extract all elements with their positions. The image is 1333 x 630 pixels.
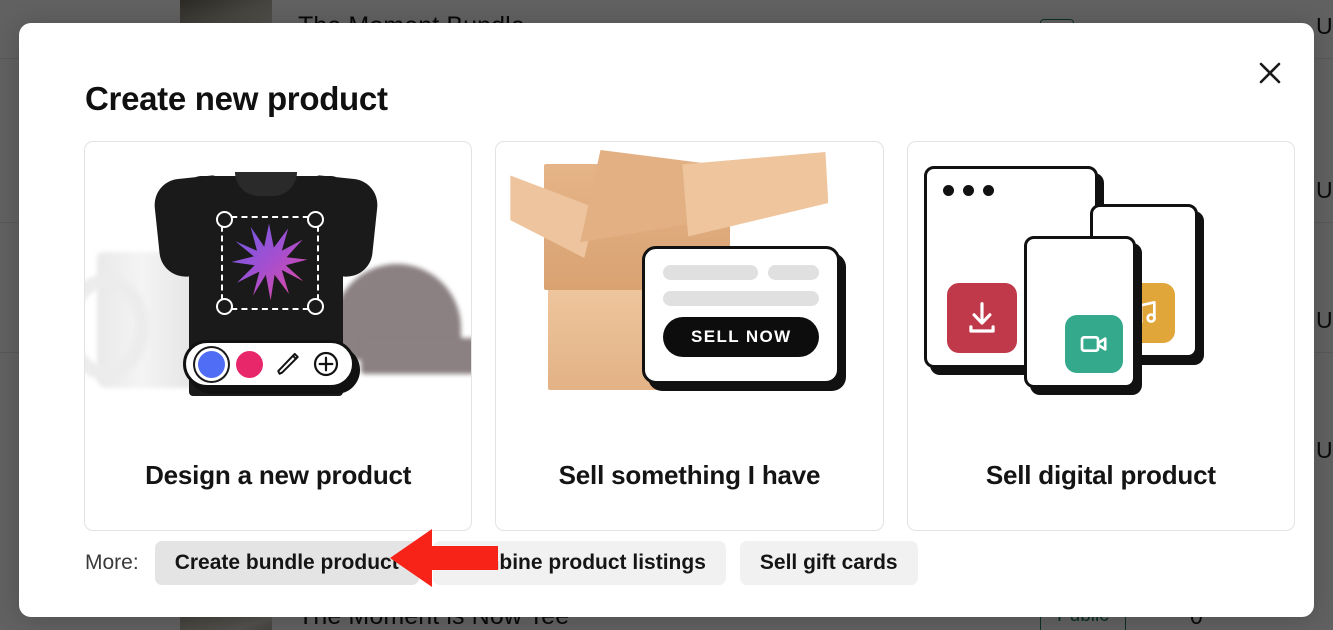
resize-handle-bottom-right[interactable]	[307, 298, 324, 315]
window-dot	[943, 185, 954, 196]
file-window-front	[1024, 236, 1136, 388]
card-label: Design a new product	[85, 460, 471, 491]
resize-handle-bottom-left[interactable]	[216, 298, 233, 315]
resize-handle-top-left[interactable]	[216, 211, 233, 228]
resize-handle-top-right[interactable]	[307, 211, 324, 228]
card-label: Sell digital product	[908, 460, 1294, 491]
create-new-product-modal: Create new product	[19, 23, 1314, 617]
placeholder-bar	[663, 265, 758, 280]
color-swatch-blue-icon[interactable]	[198, 351, 225, 378]
product-type-card-list: Design a new product	[84, 141, 1295, 531]
close-button[interactable]	[1248, 51, 1292, 95]
download-icon	[963, 299, 1001, 337]
download-tile	[947, 283, 1017, 353]
sell-gift-cards-button[interactable]: Sell gift cards	[740, 541, 918, 585]
box-flap-right	[682, 152, 828, 240]
window-dot	[963, 185, 974, 196]
window-dot	[983, 185, 994, 196]
card-label: Sell something I have	[496, 460, 882, 491]
more-label: More:	[85, 551, 139, 575]
listing-preview-card: SELL NOW	[642, 246, 840, 384]
close-icon	[1255, 58, 1285, 88]
more-options-row: More: Create bundle product Combine prod…	[85, 541, 918, 585]
pencil-icon[interactable]	[275, 351, 301, 377]
video-tile	[1065, 315, 1123, 373]
cap-brim-graphic	[361, 338, 472, 374]
placeholder-bar	[663, 291, 819, 306]
create-bundle-product-button[interactable]: Create bundle product	[155, 541, 419, 585]
placeholder-bar	[768, 265, 819, 280]
screen: The Moment Bundle U U U U The Moment is …	[0, 0, 1333, 630]
design-toolbar	[183, 340, 355, 388]
sell-now-button[interactable]: SELL NOW	[663, 317, 819, 357]
color-swatch-pink-icon[interactable]	[236, 351, 263, 378]
window-dots-icon	[943, 185, 994, 196]
page-title: Create new product	[85, 80, 388, 118]
card-sell-something-i-have[interactable]: SELL NOW Sell something I have	[495, 141, 883, 531]
placeholder-bar-row	[663, 291, 819, 306]
pointer-arrow-icon	[388, 527, 500, 589]
card-design-a-new-product[interactable]: Design a new product	[84, 141, 472, 531]
card-sell-digital-product[interactable]: Sell digital product	[907, 141, 1295, 531]
plus-circle-icon[interactable]	[312, 350, 340, 378]
placeholder-bar-row	[663, 265, 819, 280]
digital-product-illustration	[908, 142, 1295, 442]
selection-bounding-box[interactable]	[221, 216, 319, 310]
video-camera-icon	[1078, 328, 1110, 360]
sell-existing-illustration: SELL NOW	[496, 142, 883, 442]
design-product-illustration	[85, 142, 472, 442]
